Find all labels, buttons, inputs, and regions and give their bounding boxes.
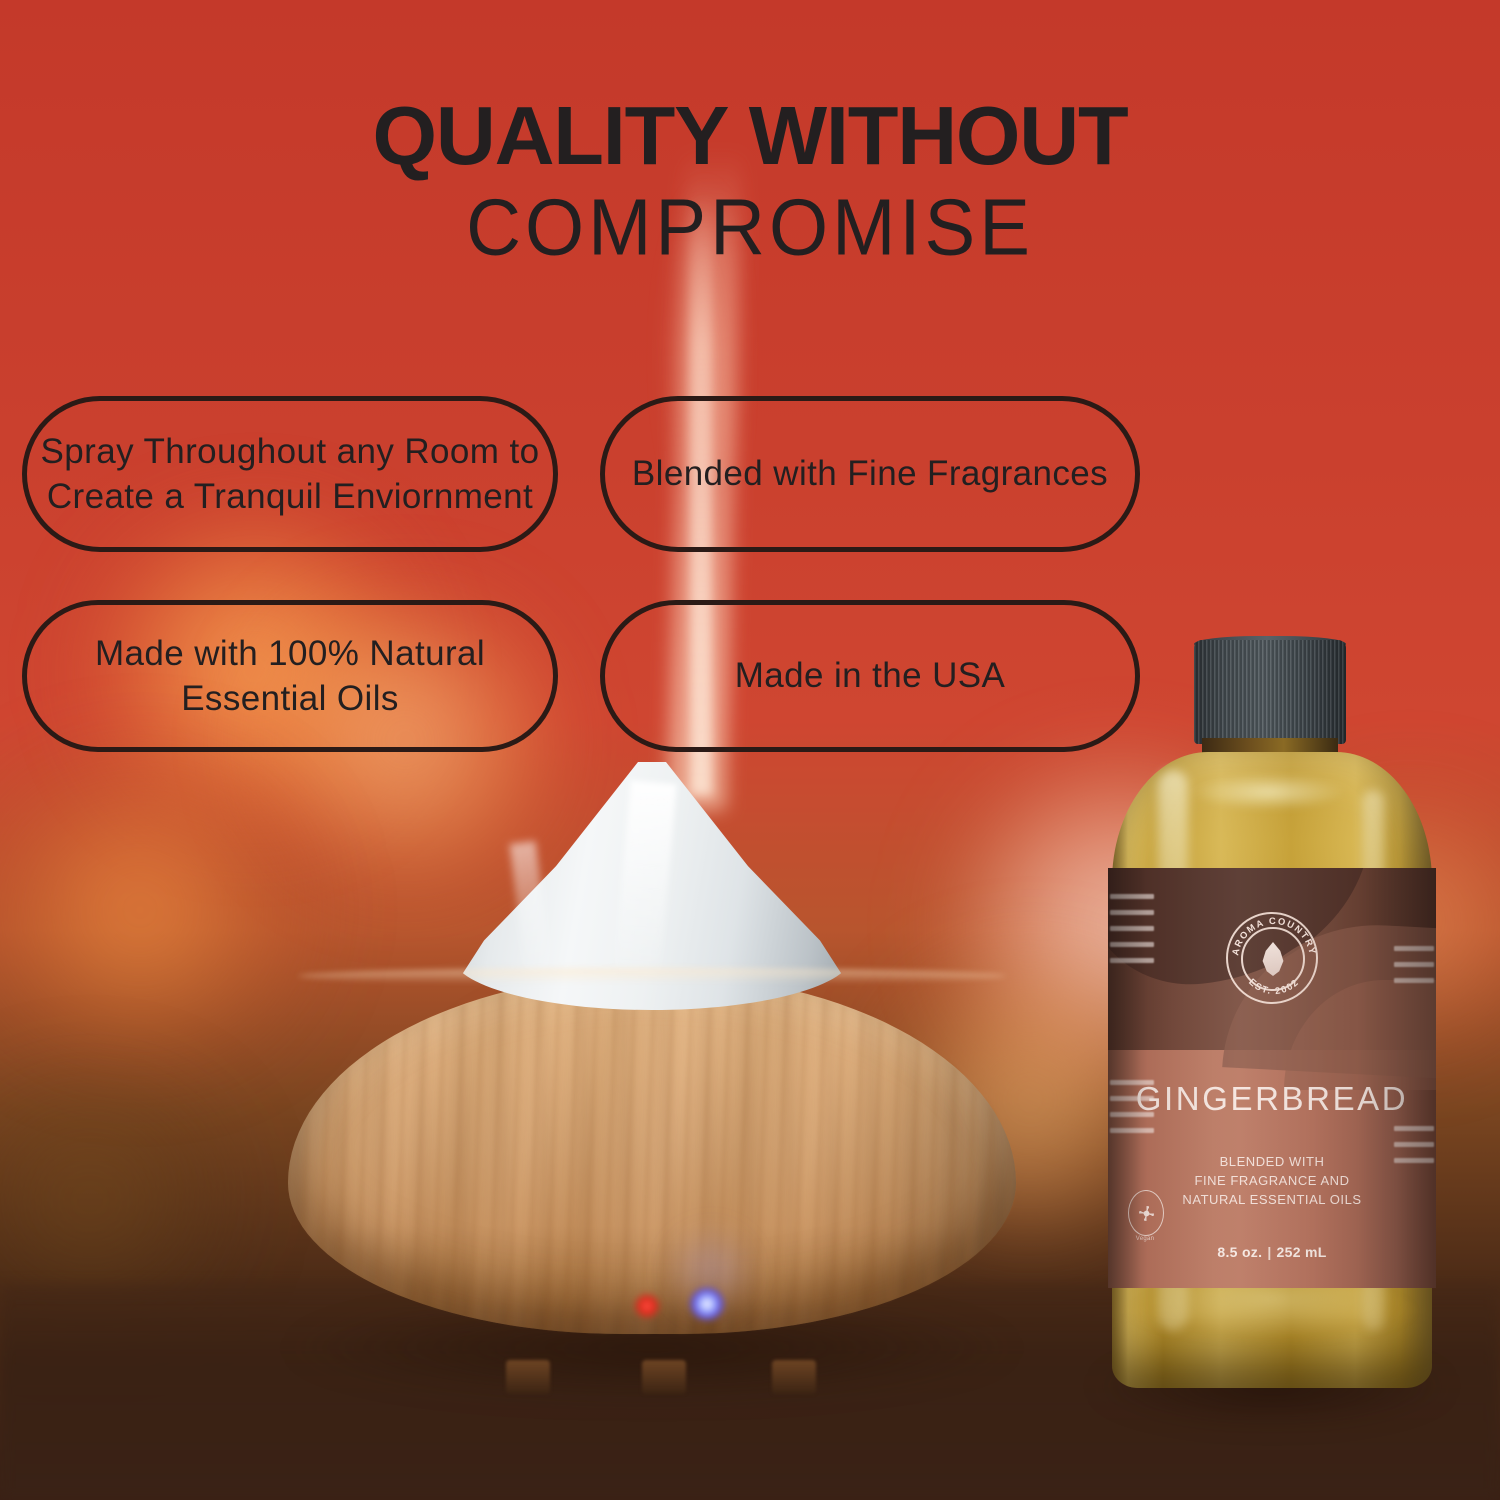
bottle-cap xyxy=(1194,640,1346,744)
feature-pill-fine-fragrances: Blended with Fine Fragrances xyxy=(600,396,1140,552)
brand-badge: AROMA COUNTRY EST. 2002 xyxy=(1226,912,1318,1004)
feature-pill-made-in-usa: Made in the USA xyxy=(600,600,1140,752)
led-indicator-blue xyxy=(690,1288,724,1320)
oil-bottle-product-photo: AROMA COUNTRY EST. 2002 xyxy=(1098,640,1446,1400)
badge-arc-bottom: EST. 2002 xyxy=(1247,976,1301,996)
led-indicator-red xyxy=(634,1294,660,1318)
label-back-text-bleed xyxy=(1110,894,1154,974)
gloss-highlight xyxy=(1194,774,1344,810)
label-back-text-bleed xyxy=(1394,946,1434,994)
page-title: QUALITY WITHOUT COMPROMISE xyxy=(0,95,1500,266)
diffuser-product-photo xyxy=(272,756,1032,1396)
diffuser-seam xyxy=(298,968,1006,984)
product-name: GINGERBREAD xyxy=(1108,1080,1436,1118)
headline-line-1: QUALITY WITHOUT xyxy=(0,95,1500,176)
oil-meniscus xyxy=(1128,1280,1416,1344)
subtitle-line-1: BLENDED WITH xyxy=(1108,1152,1436,1171)
volume-oz: 8.5 oz. xyxy=(1217,1244,1262,1260)
vegan-mark xyxy=(1139,1206,1154,1221)
diffuser-wood-body xyxy=(288,974,1016,1334)
diffuser-foot xyxy=(642,1360,686,1394)
badge-arc-top: AROMA COUNTRY xyxy=(1229,915,1319,956)
diffuser-foot xyxy=(506,1360,550,1394)
product-feature-image: QUALITY WITHOUT COMPROMISE Spray Through… xyxy=(0,0,1500,1500)
feature-pill-label: Spray Throughout any Room to Create a Tr… xyxy=(27,429,553,520)
bottle-label: AROMA COUNTRY EST. 2002 xyxy=(1108,868,1436,1288)
headline-line-2: COMPROMISE xyxy=(0,188,1500,268)
volume-ml: 252 mL xyxy=(1277,1244,1327,1260)
volume-separator: | xyxy=(1267,1244,1271,1260)
brand-badge-text: AROMA COUNTRY EST. 2002 xyxy=(1228,914,1320,1006)
feature-pill-natural-oils: Made with 100% Natural Essential Oils xyxy=(22,600,558,752)
vegan-seal-icon xyxy=(1128,1190,1164,1236)
net-volume: 8.5 oz.|252 mL xyxy=(1108,1244,1436,1260)
vegan-seal-label: Vegan xyxy=(1130,1236,1160,1242)
diffuser-foot xyxy=(772,1360,816,1394)
feature-pill-label: Made in the USA xyxy=(735,653,1006,699)
feature-pill-label: Blended with Fine Fragrances xyxy=(632,451,1108,497)
feature-pill-label: Made with 100% Natural Essential Oils xyxy=(27,631,553,722)
wood-grain-texture xyxy=(288,974,1016,1334)
subtitle-line-2: FINE FRAGRANCE AND xyxy=(1108,1171,1436,1190)
feature-pill-spray-anywhere: Spray Throughout any Room to Create a Tr… xyxy=(22,396,558,552)
